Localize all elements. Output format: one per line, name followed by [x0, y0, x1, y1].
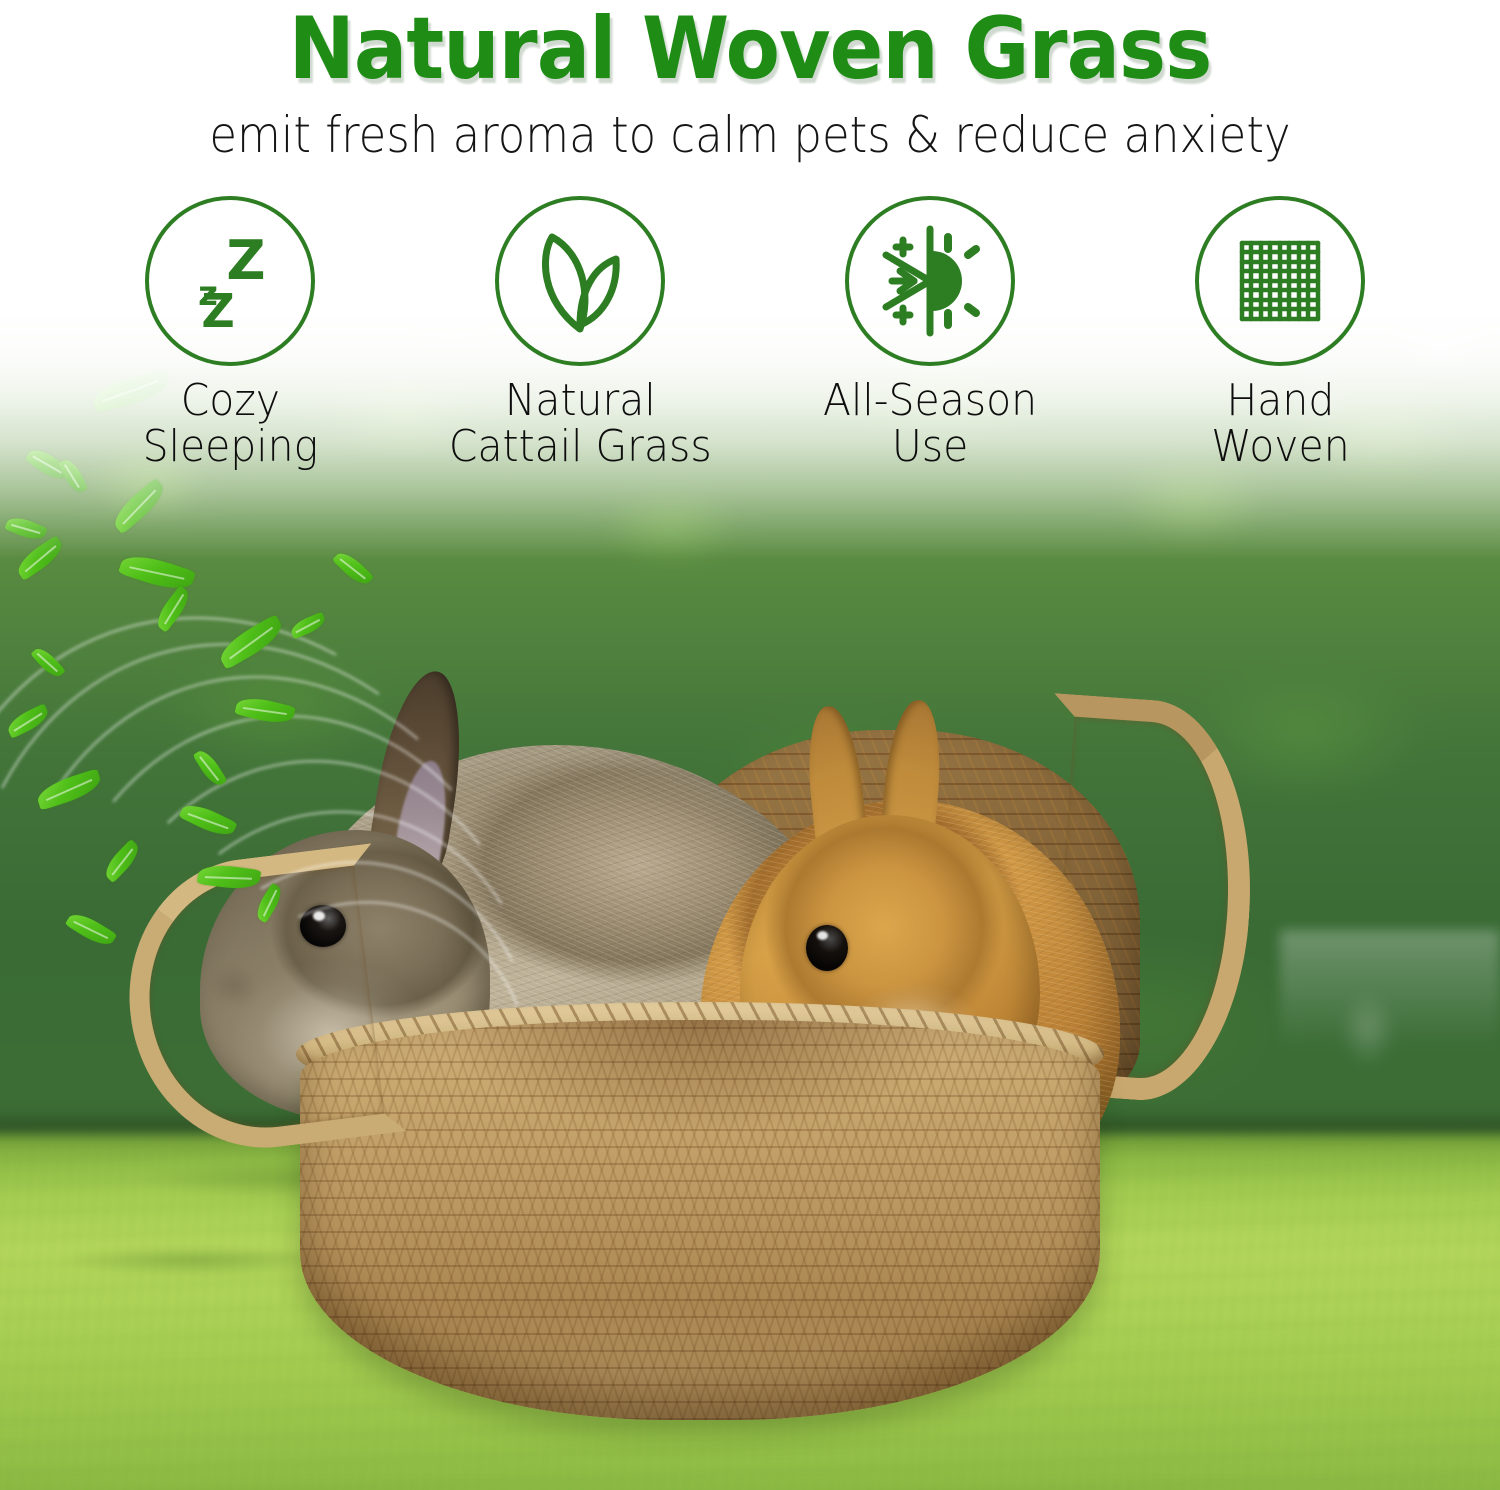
feature-icon-circle: Z z Z: [145, 196, 315, 366]
feature-icon-circle: [1195, 196, 1365, 366]
feature-item-hand-woven: Hand Woven: [1110, 196, 1450, 496]
feature-label: Natural Cattail Grass: [449, 378, 712, 470]
page-title: Natural Woven Grass: [60, 6, 1440, 92]
svg-text:Z: Z: [226, 229, 265, 292]
feature-label: All-Season Use: [823, 378, 1037, 470]
feature-label: Hand Woven: [1211, 378, 1349, 470]
feature-list: Z z Z Cozy Sleeping Natural Cattail Gras…: [60, 196, 1450, 496]
feature-item-all-season-use: All-Season Use: [760, 196, 1100, 496]
sleep-zzz-icon: Z z Z: [170, 221, 290, 341]
feature-item-cozy-sleeping: Z z Z Cozy Sleeping: [60, 196, 400, 496]
product-infographic: Natural Woven Grass emit fresh aroma to …: [0, 0, 1500, 1490]
feature-item-natural-cattail-grass: Natural Cattail Grass: [410, 196, 750, 496]
woven-weave-icon: [1220, 221, 1340, 341]
feature-icon-circle: [495, 196, 665, 366]
snowflake-sun-icon: [870, 221, 990, 341]
leaf-sprout-icon: [520, 221, 640, 341]
svg-text:Z: Z: [201, 284, 234, 338]
feature-icon-circle: [845, 196, 1015, 366]
feature-label: Cozy Sleeping: [142, 378, 318, 470]
page-subtitle: emit fresh aroma to calm pets & reduce a…: [75, 108, 1425, 163]
